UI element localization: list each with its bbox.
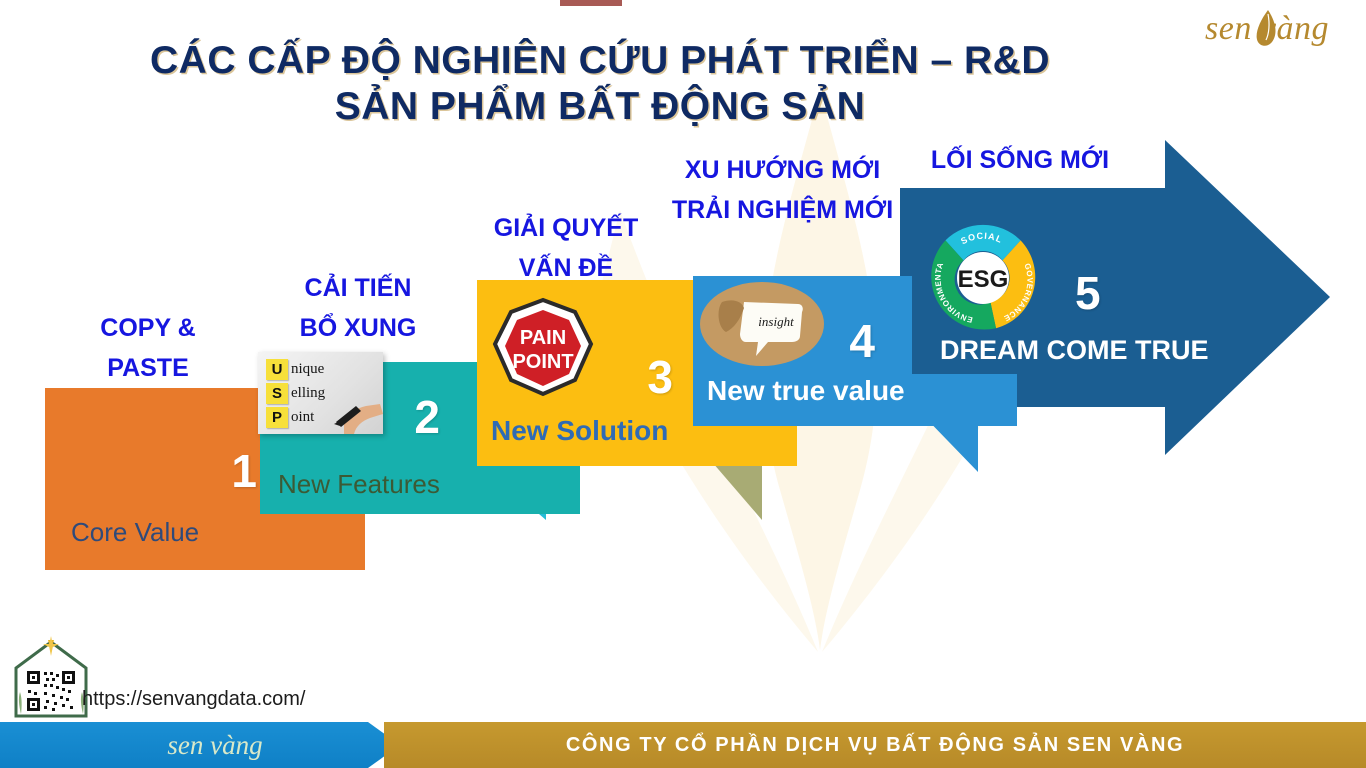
- top-label-step-3-line1: GIẢI QUYẾT: [462, 208, 670, 248]
- step-caption-2: New Features: [278, 470, 440, 499]
- top-label-step-1-line1: COPY &: [50, 308, 246, 348]
- top-label-step-2: CẢI TIẾN BỔ XUNG: [258, 268, 458, 348]
- pain-point-line1: PAIN: [520, 327, 566, 349]
- step-number-1: 1: [231, 448, 257, 494]
- brand-logo: sen vàng: [1182, 4, 1352, 56]
- esg-donut: ESG SOCIAL GOVERNANCE ENVIRONMENTAL: [926, 222, 1040, 334]
- footer-url[interactable]: https://senvangdata.com/: [82, 688, 305, 711]
- top-label-step-4-line2: TRẢI NGHIỆM MỚI: [655, 190, 910, 230]
- lotus-flame-icon: [1182, 4, 1352, 56]
- top-label-step-4-line1: XU HƯỚNG MỚI: [655, 150, 910, 190]
- top-label-step-2-line1: CẢI TIẾN: [258, 268, 458, 308]
- step-caption-3: New Solution: [491, 416, 668, 447]
- footer-company-name: CÔNG TY CỔ PHẦN DỊCH VỤ BẤT ĐỘNG SẢN SEN…: [384, 722, 1366, 768]
- top-label-step-1: COPY & PASTE: [50, 308, 246, 388]
- title-line-2: SẢN PHẨM BẤT ĐỘNG SẢN: [0, 84, 1200, 130]
- step-caption-1: Core Value: [71, 518, 199, 547]
- top-label-step-5: LỐI SỐNG MỚI: [920, 140, 1120, 180]
- step-caption-4: New true value: [707, 376, 905, 407]
- top-label-step-5-line1: LỐI SỐNG MỚI: [920, 140, 1120, 180]
- page-title: CÁC CẤP ĐỘ NGHIÊN CỨU PHÁT TRIỂN – R&D S…: [0, 38, 1200, 130]
- step-number-5: 5: [1075, 270, 1101, 316]
- top-label-step-4: XU HƯỚNG MỚI TRẢI NGHIỆM MỚI: [655, 150, 910, 230]
- step-caption-5: DREAM COME TRUE: [940, 336, 1209, 366]
- step-number-3: 3: [647, 354, 673, 400]
- insight-image: insight: [698, 280, 826, 368]
- esg-center-label: ESG: [958, 266, 1009, 293]
- top-label-step-2-line2: BỔ XUNG: [258, 308, 458, 348]
- footer-bar: sen vàng CÔNG TY CỔ PHẦN DỊCH VỤ BẤT ĐỘN…: [0, 722, 1366, 768]
- footer-brand-logo: sen vàng: [120, 725, 310, 765]
- insight-label: insight: [758, 314, 794, 329]
- step-number-2: 2: [414, 394, 440, 440]
- slide-canvas: sen vàng CÁC CẤP ĐỘ NGHIÊN CỨU PHÁT TRIỂ…: [0, 0, 1366, 768]
- title-line-1: CÁC CẤP ĐỘ NGHIÊN CỨU PHÁT TRIỂN – R&D: [0, 38, 1200, 84]
- top-label-step-1-line2: PASTE: [50, 348, 246, 388]
- top-label-step-3: GIẢI QUYẾT VẤN ĐỀ: [462, 208, 670, 288]
- pain-point-line2: POINT: [512, 351, 573, 373]
- step-number-4: 4: [849, 318, 875, 364]
- usp-image: U nique S elling P oint: [258, 352, 383, 434]
- top-red-strip: [560, 0, 622, 6]
- pain-point-badge: PAIN POINT: [487, 296, 599, 400]
- hand-pen-icon: [258, 352, 383, 434]
- top-label-step-3-line2: VẤN ĐỀ: [462, 248, 670, 288]
